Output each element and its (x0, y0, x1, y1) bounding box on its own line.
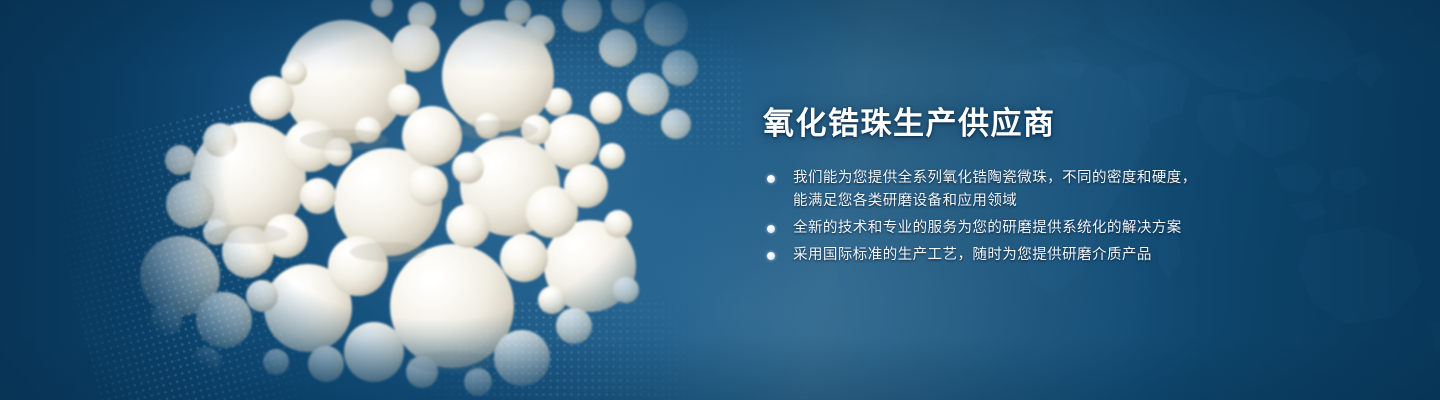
bullet-text-line: 采用国际标准的生产工艺，随时为您提供研磨介质产品 (793, 244, 1233, 267)
bullet-text-line: 全新的技术和专业的服务为您的研磨提供系统化的解决方案 (793, 217, 1233, 240)
bullet-dot-icon (767, 225, 775, 233)
list-item: 全新的技术和专业的服务为您的研磨提供系统化的解决方案 (763, 217, 1233, 240)
hero-banner: 氧化锆珠生产供应商 我们能为您提供全系列氧化锆陶瓷微珠，不同的密度和硬度， 能满… (0, 0, 1440, 400)
feature-list: 我们能为您提供全系列氧化锆陶瓷微珠，不同的密度和硬度， 能满足您各类研磨设备和应… (763, 167, 1233, 267)
bullet-text-line: 我们能为您提供全系列氧化锆陶瓷微珠，不同的密度和硬度， (793, 167, 1233, 190)
list-item: 采用国际标准的生产工艺，随时为您提供研磨介质产品 (763, 244, 1233, 267)
page-title: 氧化锆珠生产供应商 (763, 104, 1233, 144)
bullet-text-line: 能满足您各类研磨设备和应用领域 (793, 190, 1233, 213)
list-item: 我们能为您提供全系列氧化锆陶瓷微珠，不同的密度和硬度， 能满足您各类研磨设备和应… (763, 167, 1233, 213)
banner-copy: 氧化锆珠生产供应商 我们能为您提供全系列氧化锆陶瓷微珠，不同的密度和硬度， 能满… (763, 104, 1233, 271)
bullet-dot-icon (767, 252, 775, 260)
bullet-dot-icon (767, 175, 775, 183)
